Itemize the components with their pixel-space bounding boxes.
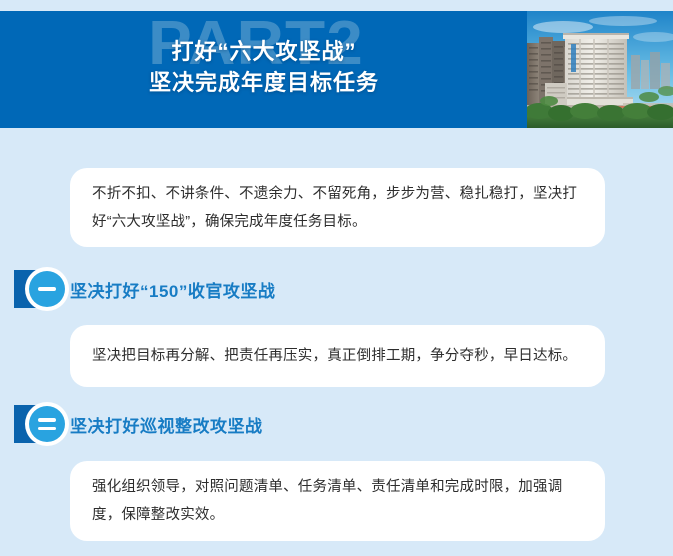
- section-title-2: 坚决打好巡视整改攻坚战: [70, 412, 263, 437]
- section-marker-2: [0, 402, 70, 446]
- section-card-text-1: 坚决把目标再分解、把责任再压实，真正倒排工期，争分夺秒，早日达标。: [92, 342, 577, 370]
- intro-card-text: 不折不扣、不讲条件、不遗余力、不留死角，步步为营、稳扎稳打，坚决打好“六大攻坚战…: [92, 180, 583, 236]
- section-card-1: 坚决把目标再分解、把责任再压实，真正倒排工期，争分夺秒，早日达标。: [70, 325, 605, 387]
- marker-bar: [38, 418, 56, 422]
- section-heading-2[interactable]: 坚决打好巡视整改攻坚战: [0, 402, 263, 446]
- section-card-2: 强化组织领导，对照问题清单、任务清单、责任清单和完成时限，加强调度，保障整改实效…: [70, 461, 605, 541]
- section-heading-1[interactable]: 坚决打好“150”收官攻坚战: [0, 267, 275, 311]
- numeral-two-icon: [29, 406, 65, 442]
- banner-title-line-2: 坚决完成年度目标任务: [0, 67, 528, 98]
- header-building-photo: [527, 11, 673, 128]
- section-marker-1: [0, 267, 70, 311]
- numeral-one-icon: [29, 271, 65, 307]
- section-title-1: 坚决打好“150”收官攻坚战: [70, 277, 275, 302]
- marker-ring-icon: [25, 267, 69, 311]
- banner-title-group: 打好“六大攻坚战” 坚决完成年度目标任务: [0, 36, 528, 98]
- intro-card: 不折不扣、不讲条件、不遗余力、不留死角，步步为营、稳扎稳打，坚决打好“六大攻坚战…: [70, 168, 605, 247]
- marker-ring-icon: [25, 402, 69, 446]
- marker-bar: [38, 427, 56, 431]
- banner-title-line-1: 打好“六大攻坚战”: [0, 36, 528, 67]
- marker-bar: [38, 287, 56, 291]
- header-banner: PART2 打好“六大攻坚战” 坚决完成年度目标任务: [0, 11, 673, 128]
- section-card-text-2: 强化组织领导，对照问题清单、任务清单、责任清单和完成时限，加强调度，保障整改实效…: [92, 473, 583, 529]
